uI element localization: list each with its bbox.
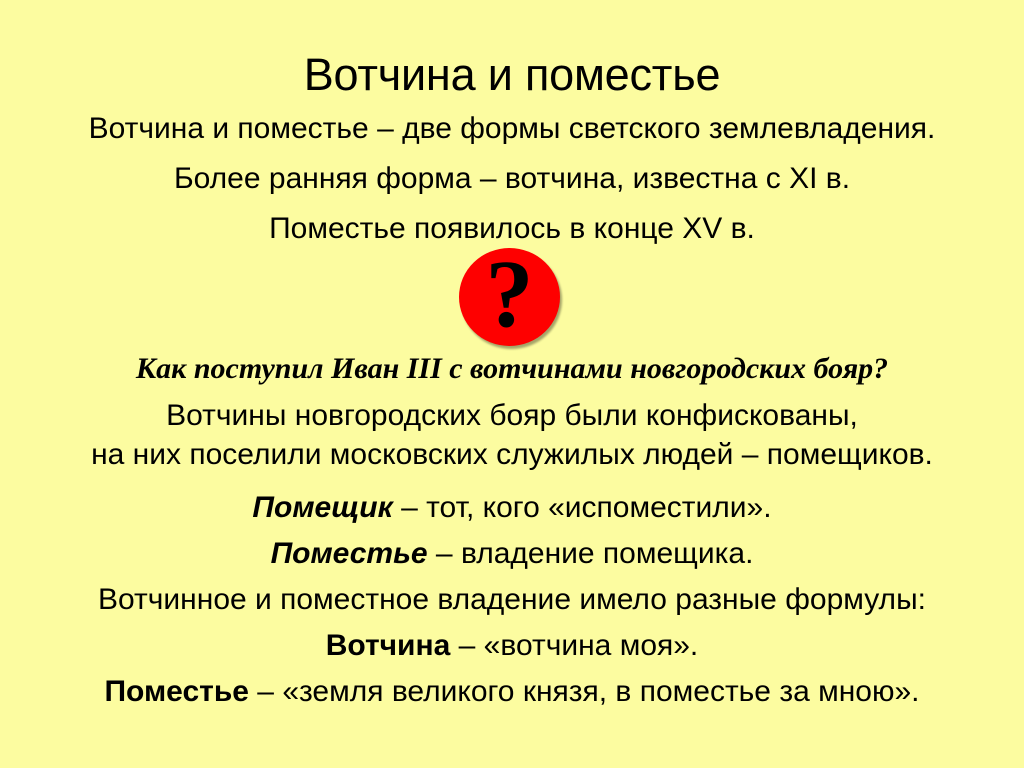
answer-text-block: Вотчины новгородских бояр были конфисков… (0, 396, 1024, 474)
definitions-block: Помещик – тот, кого «испоместили». Помес… (0, 485, 1024, 715)
formula-pomestye: Поместье – «земля великого князя, в поме… (0, 669, 1024, 715)
term-pomestye: Поместье (271, 537, 428, 570)
answer-line-2: на них поселили московских служилых люде… (0, 435, 1024, 474)
intro-line-2: Более ранняя форма – вотчина, известна с… (0, 154, 1024, 204)
formula-votchina: Вотчина – «вотчина моя». (0, 623, 1024, 669)
presentation-slide: Вотчина и поместье Вотчина и поместье – … (0, 0, 1024, 768)
intro-line-1: Вотчина и поместье – две формы светского… (0, 104, 1024, 154)
term-pomestye-formula: Поместье (104, 675, 248, 708)
answer-line-1: Вотчины новгородских бояр были конфисков… (0, 396, 1024, 435)
formula-pomestye-rest: – «земля великого князя, в поместье за м… (249, 675, 920, 708)
formulas-intro-line: Вотчинное и поместное владение имело раз… (0, 577, 1024, 623)
formula-votchina-rest: – «вотчина моя». (450, 629, 698, 662)
definition-pomestye: Поместье – владение помещика. (0, 531, 1024, 577)
definition-pomeshchik: Помещик – тот, кого «испоместили». (0, 485, 1024, 531)
definition-pomeshchik-rest: – тот, кого «испоместили». (393, 491, 772, 524)
question-mark-badge: ? (459, 248, 560, 346)
intro-text-block: Вотчина и поместье – две формы светского… (0, 104, 1024, 254)
definition-pomestye-rest: – владение помещика. (428, 537, 754, 570)
term-pomeshchik: Помещик (252, 491, 392, 524)
question-mark-icon: ? (486, 246, 534, 342)
term-votchina: Вотчина (326, 629, 451, 662)
page-title: Вотчина и поместье (0, 46, 1024, 104)
discussion-question: Как поступил Иван III с вотчинами новгор… (0, 350, 1024, 388)
